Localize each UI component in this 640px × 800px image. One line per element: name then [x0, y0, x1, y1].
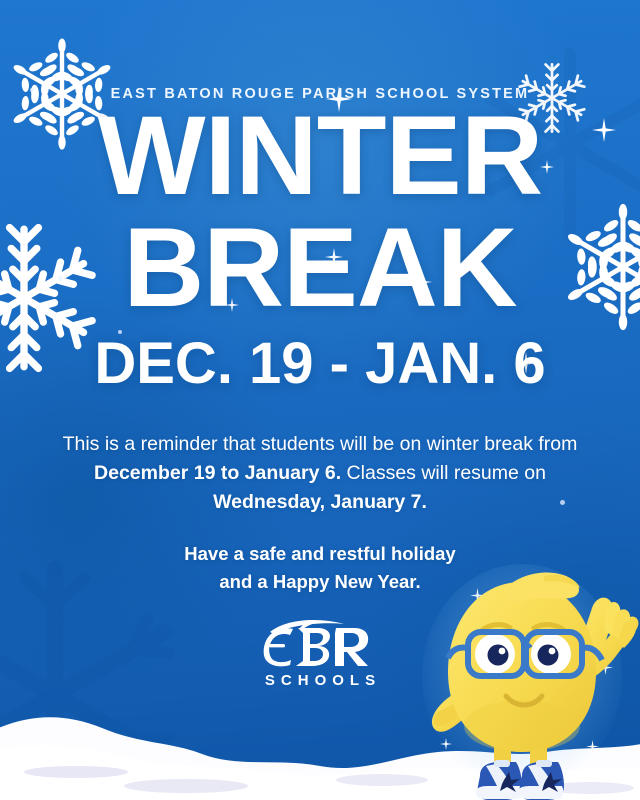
body-text-part2: Classes will resume on	[341, 462, 546, 484]
body-bold-resume: Wednesday, January 7.	[213, 491, 427, 513]
ebr-mascot-character	[410, 556, 640, 800]
winter-break-poster: EAST BATON ROUGE PARISH SCHOOL SYSTEM WI…	[0, 0, 640, 800]
body-text-part1: This is a reminder that students will be…	[63, 433, 578, 455]
title-line-1: WINTER	[0, 110, 640, 202]
title-line-2: BREAK	[0, 222, 640, 314]
closing-line-2: and a Happy New Year.	[219, 571, 420, 592]
date-range: DEC. 19 - JAN. 6	[0, 340, 640, 388]
body-paragraph: This is a reminder that students will be…	[62, 430, 578, 517]
ebr-monogram-icon	[256, 620, 384, 670]
body-bold-dates: December 19 to January 6.	[94, 462, 341, 484]
